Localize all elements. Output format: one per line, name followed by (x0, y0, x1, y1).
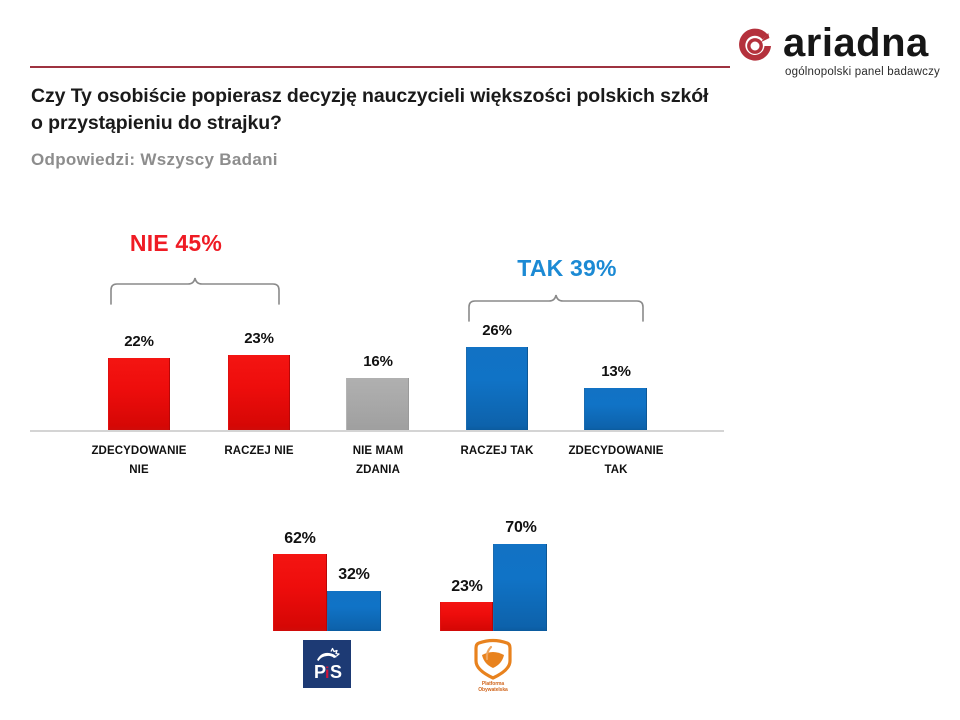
po-bar-nie (440, 602, 493, 631)
pis-value-nie: 62% (260, 530, 340, 548)
po-value-tak: 70% (481, 519, 561, 537)
svg-text:S: S (330, 662, 342, 682)
po-value-nie: 23% (427, 578, 507, 596)
pis-bar-tak (327, 591, 381, 631)
pis-value-tak: 32% (314, 566, 394, 584)
svg-text:i: i (325, 665, 329, 682)
pis-logo-icon: P i S (303, 640, 351, 688)
slide-canvas: ariadna ogólnopolski panel badawczy Czy … (0, 0, 960, 720)
party-breakdown-chart: 62% 32% P i S 23% 70% (0, 0, 960, 720)
po-logo-caption: Platforma Obywatelska (465, 681, 521, 693)
po-caption-line-2: Obywatelska (478, 687, 507, 693)
platforma-obywatelska-logo-icon: Platforma Obywatelska (465, 637, 521, 693)
